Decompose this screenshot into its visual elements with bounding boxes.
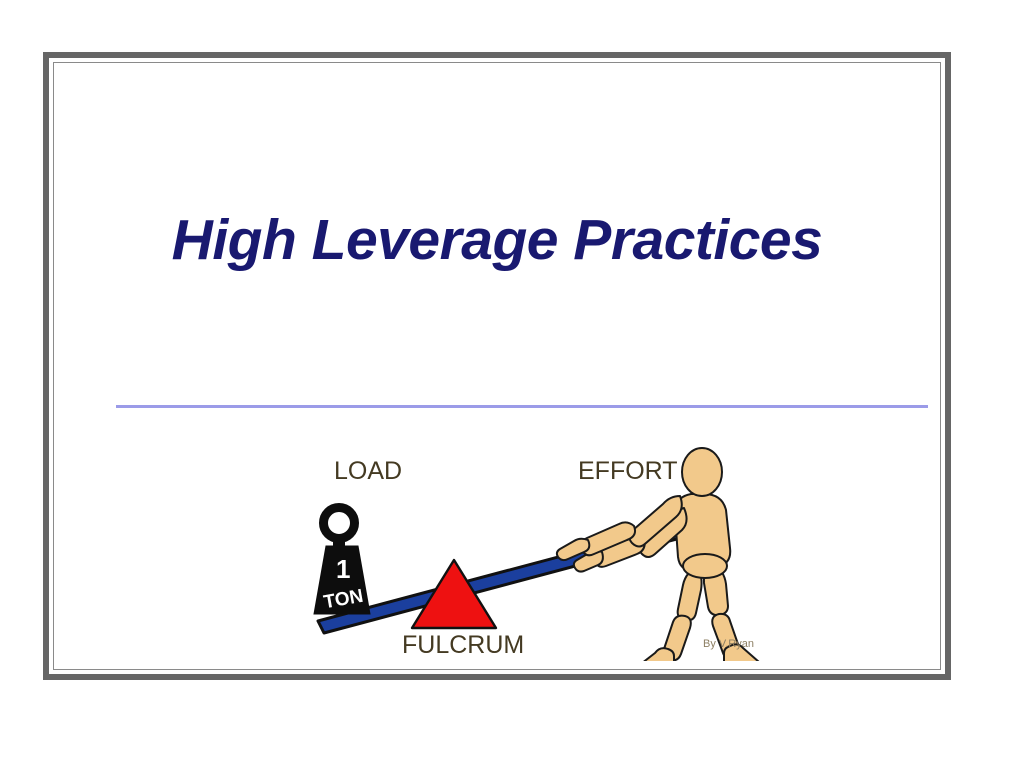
lever-diagram-svg: LOAD EFFORT [306, 446, 776, 661]
slide-frame: High Leverage Practices LOAD EFFORT [43, 52, 951, 680]
mannequin-head [682, 448, 722, 496]
load-label: LOAD [334, 457, 402, 485]
horizontal-divider [116, 405, 928, 408]
credit-label: By V.Ryan [703, 638, 754, 650]
page-title: High Leverage Practices [54, 211, 940, 271]
slide-inner-border: High Leverage Practices LOAD EFFORT [53, 62, 941, 670]
fulcrum-label: FULCRUM [402, 631, 524, 659]
effort-label: EFFORT [578, 457, 678, 485]
load-weight: 1 TON [314, 508, 370, 615]
mannequin-hip [683, 554, 727, 578]
lever-diagram-image: LOAD EFFORT [306, 446, 776, 661]
weight-value: 1 [336, 554, 350, 584]
mannequin-near-foot [635, 648, 674, 661]
